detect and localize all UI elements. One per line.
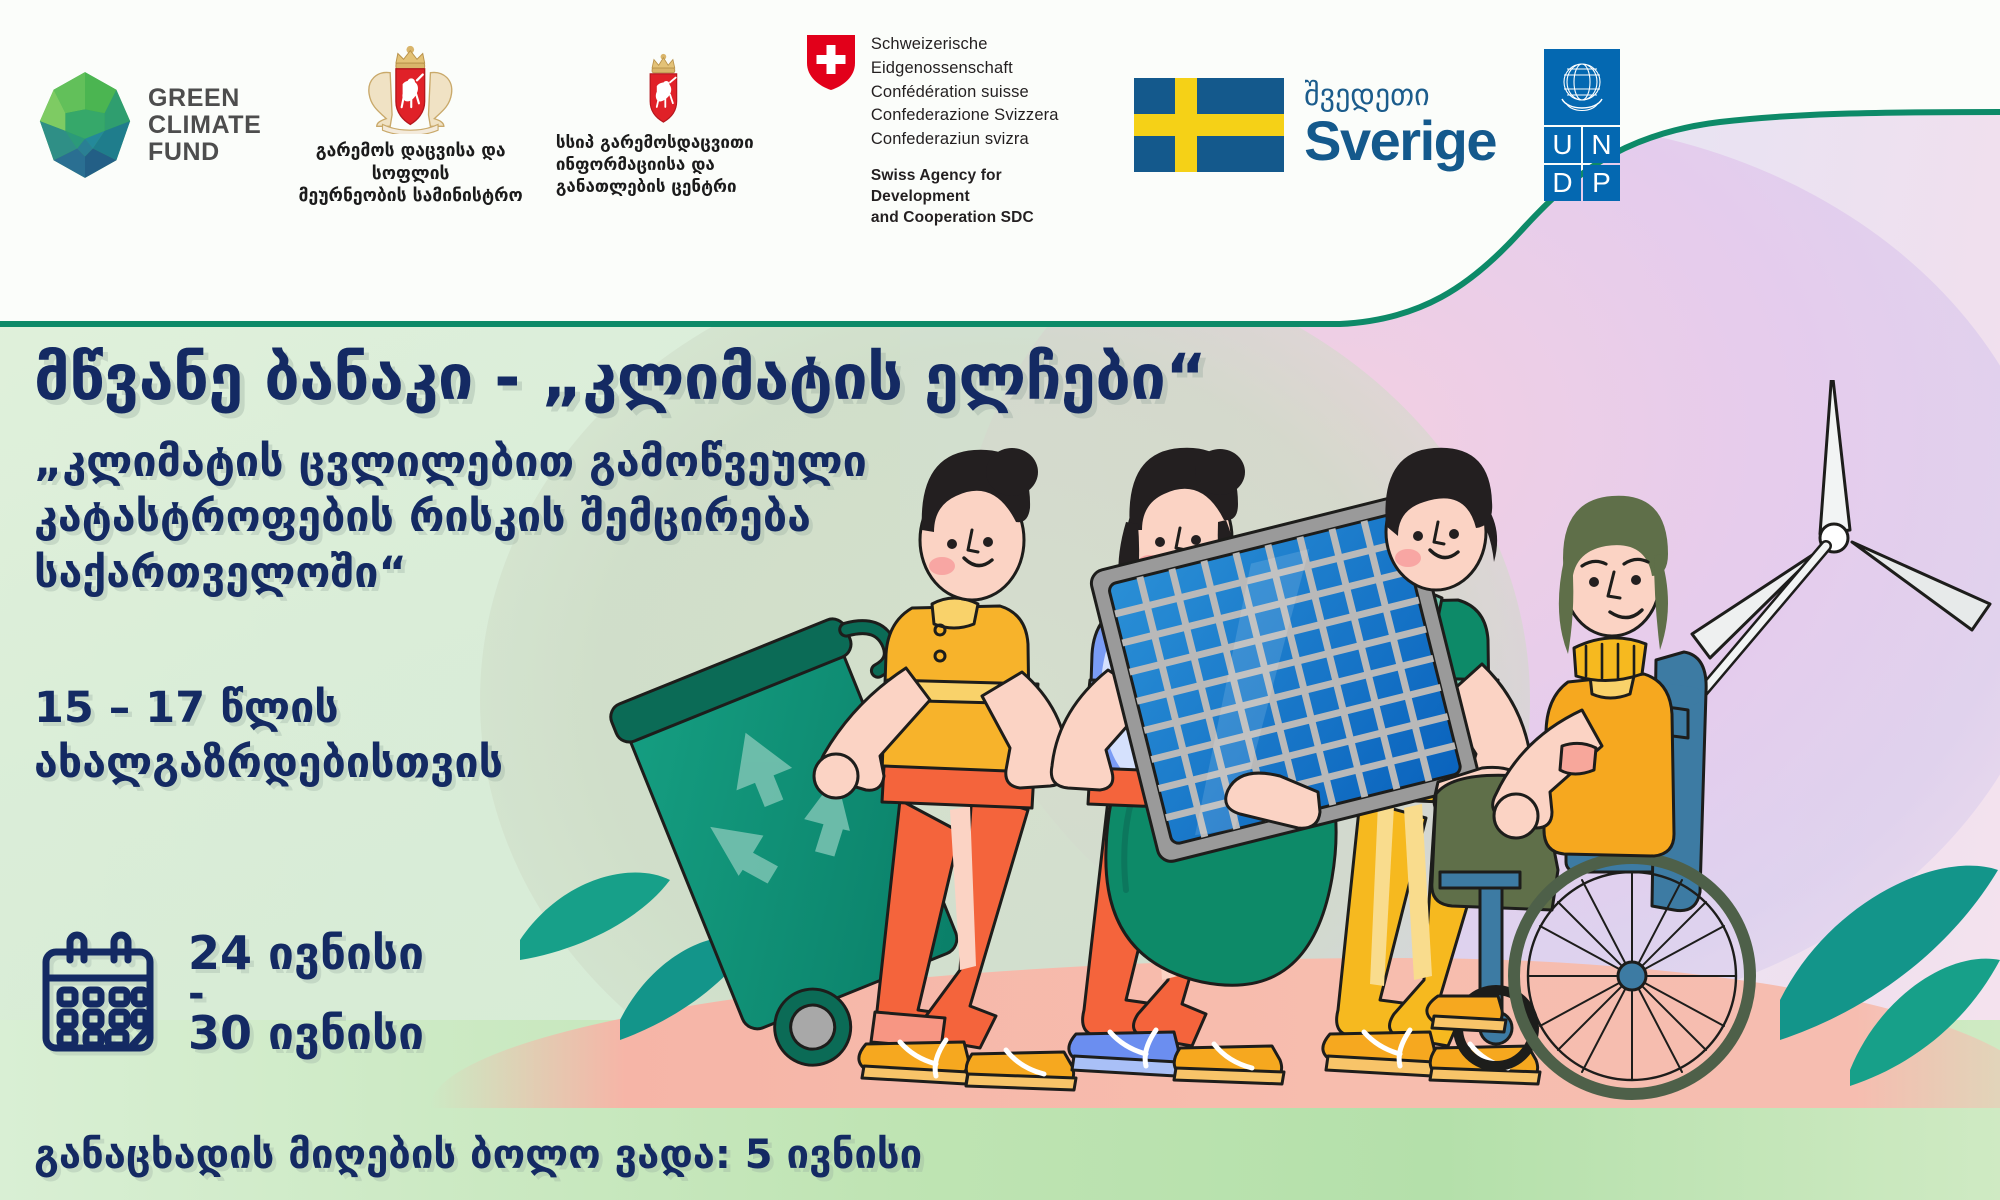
- ministry-name: გარემოს დაცვისა და სოფლის მეურნეობის სამ…: [295, 140, 525, 207]
- georgia-coat-of-arms-icon: [348, 42, 473, 134]
- undp-emblem-icon: U N D P: [1544, 49, 1620, 201]
- sweden-wordmark: შვედეთი Sverige: [1304, 81, 1496, 169]
- sdc-line-1: Swiss Agency for Development: [871, 166, 1082, 208]
- swiss-line-de: Schweizerische Eidgenossenschaft: [871, 33, 1082, 80]
- logo-green-climate-fund[interactable]: GREEN CLIMATE FUND: [36, 70, 261, 180]
- page-title: მწვანე ბანაკი - „კლიმატის ელჩები“: [34, 346, 1154, 411]
- gcf-wordmark: GREEN CLIMATE FUND: [148, 85, 261, 166]
- georgia-shield-icon: [635, 52, 692, 124]
- age-line-2: ახალგაზრდებისთვის: [34, 736, 1154, 791]
- eiec-line-2: ინფორმაციისა და: [556, 154, 771, 176]
- partner-logo-bar: GREEN CLIMATE FUND: [0, 0, 1620, 250]
- subtitle-line-2: კატასტროფების რისკის შემცირება: [34, 490, 1154, 545]
- svg-text:D: D: [1552, 167, 1572, 198]
- event-end-date: 30 ივნისი: [188, 1010, 424, 1058]
- event-start-date: 24 ივნისი: [188, 930, 424, 978]
- svg-text:U: U: [1552, 129, 1572, 160]
- logo-environmental-education-centre[interactable]: სსიპ გარემოსდაცვითი ინფორმაციისა და განა…: [556, 52, 771, 198]
- logo-sweden[interactable]: შვედეთი Sverige: [1134, 78, 1496, 172]
- swiss-line-fr: Confédération suisse: [871, 81, 1082, 105]
- swiss-sdc-name: Swiss Agency for Development and Coopera…: [871, 166, 1082, 228]
- event-date-range: 24 ივნისი - 30 ივნისი: [188, 930, 424, 1058]
- swiss-text-block: Schweizerische Eidgenossenschaft Confédé…: [871, 33, 1082, 228]
- copy-block: მწვანე ბანაკი - „კლიმატის ელჩები“ „კლიმა…: [34, 346, 1154, 791]
- eiec-line-1: სსიპ გარემოსდაცვითი: [556, 132, 771, 154]
- svg-text:N: N: [1591, 129, 1611, 160]
- logo-swiss-confederation-sdc[interactable]: Schweizerische Eidgenossenschaft Confédé…: [805, 21, 1082, 228]
- swiss-line-rm: Confederaziun svizra: [871, 128, 1082, 152]
- swiss-line-it: Confederazione Svizzera: [871, 104, 1082, 128]
- age-line-1: 15 – 17 წლის: [34, 681, 1154, 736]
- subtitle-line-1: „კლიმატის ცვლილებით გამოწვეული: [34, 435, 1154, 490]
- svg-text:P: P: [1592, 167, 1611, 198]
- subtitle-line-3: საქართველოში“: [34, 546, 1154, 601]
- gcf-line-2: CLIMATE: [148, 112, 261, 139]
- ministry-line-2: მეურნეობის სამინისტრო: [295, 185, 525, 207]
- application-deadline: განაცხადის მიღების ბოლო ვადა: 5 ივნისი: [34, 1132, 922, 1178]
- ministry-line-1: გარემოს დაცვისა და სოფლის: [295, 140, 525, 185]
- audience-age-range: 15 – 17 წლის ახალგაზრდებისთვის: [34, 681, 1154, 791]
- logo-ministry-environment-georgia[interactable]: გარემოს დაცვისა და სოფლის მეურნეობის სამ…: [295, 42, 525, 207]
- logo-undp[interactable]: U N D P: [1544, 49, 1620, 201]
- event-dates-row: 24 ივნისი - 30 ივნისი: [34, 930, 424, 1058]
- sdc-line-2: and Cooperation SDC: [871, 208, 1082, 229]
- project-subtitle: „კლიმატის ცვლილებით გამოწვეული კატასტროფ…: [34, 435, 1154, 601]
- faceted-sphere-icon: [36, 70, 134, 180]
- calendar-icon: [34, 930, 162, 1058]
- sweden-flag-icon: [1134, 78, 1284, 172]
- sweden-label-ka: შვედეთი: [1304, 81, 1496, 111]
- eiec-name: სსიპ გარემოსდაცვითი ინფორმაციისა და განა…: [556, 132, 771, 198]
- swiss-languages: Schweizerische Eidgenossenschaft Confédé…: [871, 33, 1082, 151]
- eiec-line-3: განათლების ცენტრი: [556, 176, 771, 198]
- poster-canvas: GREEN CLIMATE FUND: [0, 0, 2000, 1200]
- gcf-line-1: GREEN: [148, 85, 261, 112]
- swiss-shield-icon: [805, 33, 857, 91]
- sweden-label-en: Sverige: [1304, 113, 1496, 169]
- gcf-line-3: FUND: [148, 139, 261, 166]
